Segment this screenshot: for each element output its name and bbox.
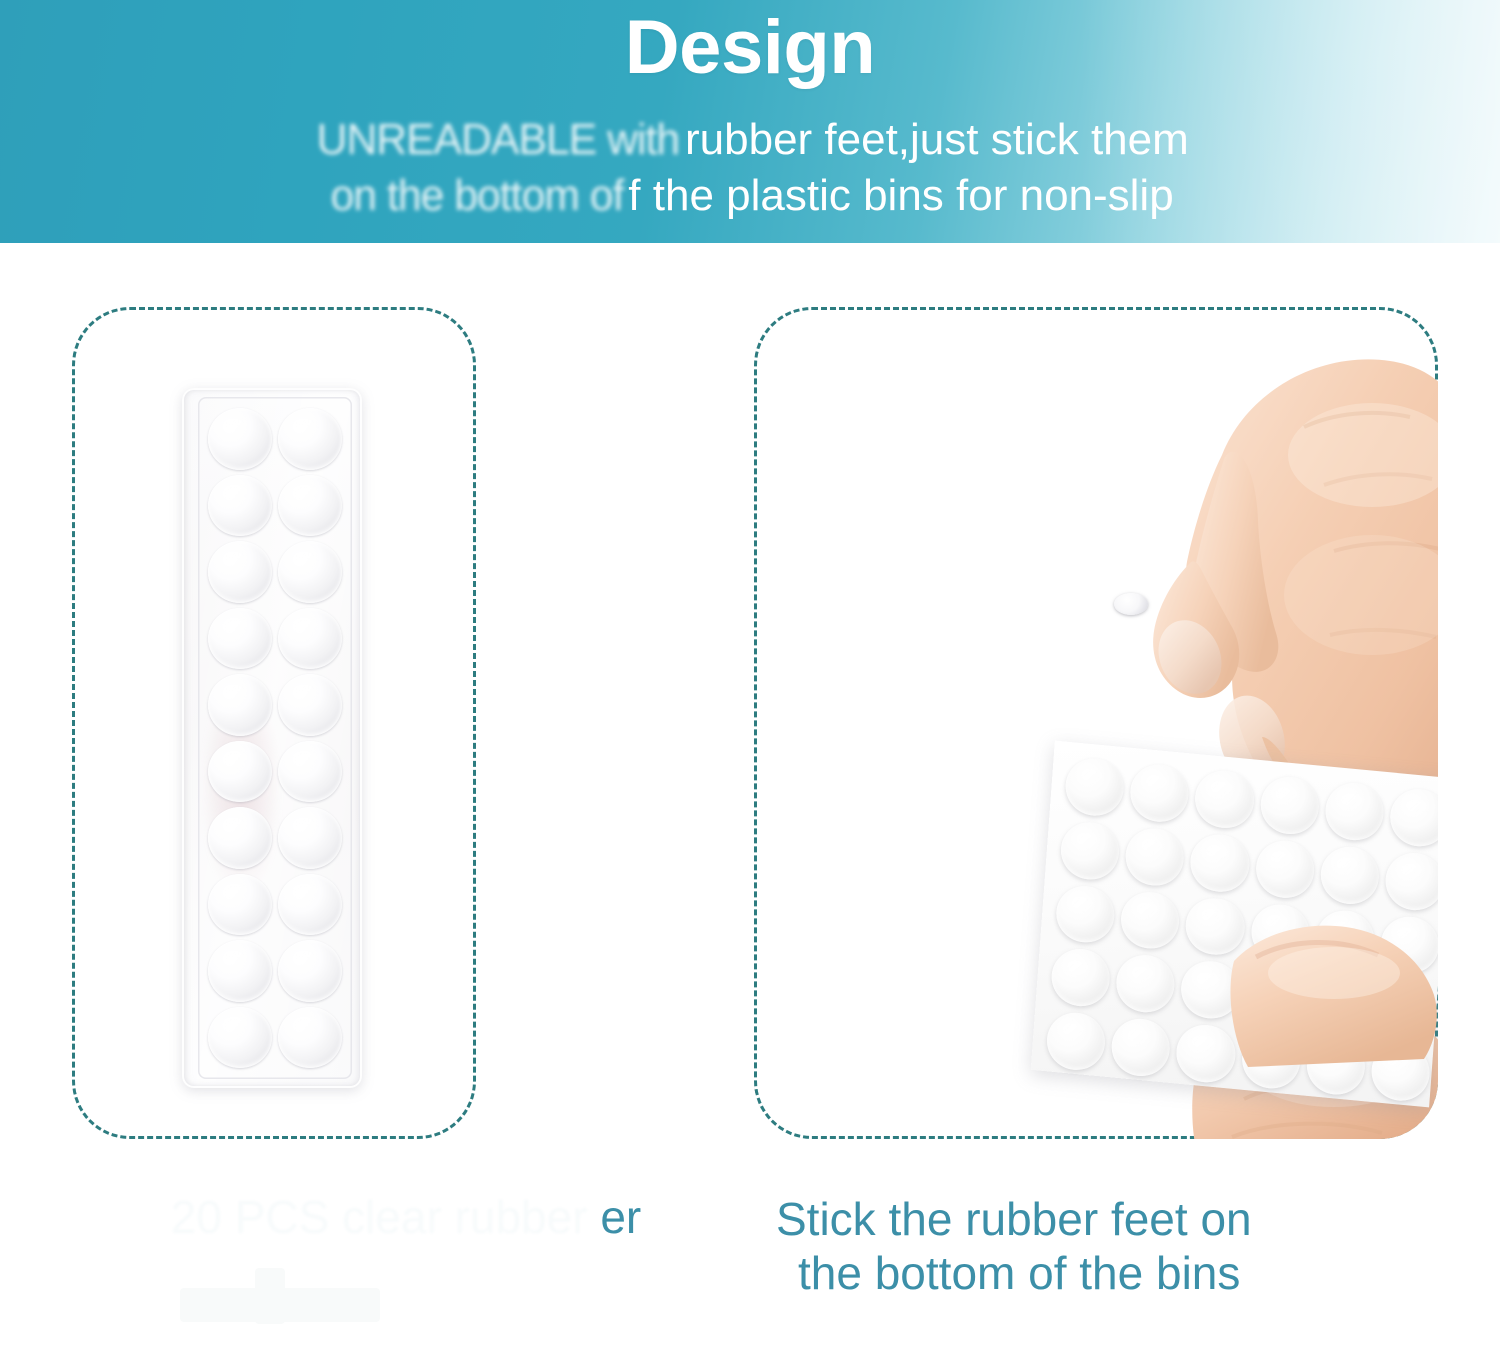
white-rubber-foot [1388,787,1438,849]
white-rubber-foot [1193,768,1255,830]
subtitle-line-2-legible: f the plastic bins for non-slip [628,168,1173,224]
caption-right-line-2: the bottom of the bins [776,1246,1436,1300]
clear-rubber-foot [208,874,272,936]
rubber-feet-strip-product-image [182,388,362,1088]
white-rubber-foot [1189,832,1251,894]
page-title: Design [0,8,1500,88]
clear-rubber-foot [208,1007,272,1069]
clear-rubber-foot [278,741,342,803]
clear-rubber-foot [278,940,342,1002]
clear-rubber-foot [208,674,272,736]
clear-rubber-foot [278,1007,342,1069]
clear-rubber-foot [208,475,272,537]
caption-right: Stick the rubber feet on the bottom of t… [776,1192,1436,1301]
white-rubber-foot [1319,844,1381,906]
finger-over-sheet [1230,915,1438,1067]
white-rubber-foot [1045,1010,1107,1072]
clear-rubber-foot [208,741,272,803]
clear-rubber-foot [208,940,272,1002]
header-banner: Design UNREADABLE withrubber feet,just s… [0,0,1500,243]
clear-rubber-foot [278,674,342,736]
clear-dome-grid [204,404,346,1072]
white-rubber-foot [1064,756,1126,818]
white-rubber-foot [1258,774,1320,836]
clear-rubber-foot [278,874,342,936]
subtitle-line-2-blurred: on the bottom of [331,168,624,224]
infographic-page: Design UNREADABLE withrubber feet,just s… [0,0,1500,1356]
subtitle-line-2: on the bottom off the plastic bins for n… [0,168,1500,224]
clear-rubber-foot [208,541,272,603]
caption-right-line-1: Stick the rubber feet on [776,1192,1436,1246]
clear-rubber-foot [208,408,272,470]
caption-left-faded: 20 PCS clear rubber [171,1191,588,1243]
white-rubber-foot [1054,883,1116,945]
clear-rubber-foot [278,807,342,869]
white-rubber-foot [1115,953,1177,1015]
clear-rubber-foot [278,475,342,537]
caption-left: 20 PCS clear rubber er [96,1190,716,1244]
white-rubber-foot [1129,762,1191,824]
clear-rubber-foot [278,408,342,470]
caption-left-visible-fragment: er [600,1191,641,1243]
white-rubber-foot [1383,850,1438,912]
white-rubber-foot [1323,780,1385,842]
clear-rubber-foot [278,608,342,670]
white-rubber-foot [1059,820,1121,882]
banner-subtitle: UNREADABLE withrubber feet,just stick th… [0,112,1500,225]
white-rubber-foot [1175,1023,1237,1085]
clear-rubber-foot [278,541,342,603]
white-rubber-foot [1110,1017,1172,1079]
white-rubber-foot [1050,947,1112,1009]
subtitle-line-1-blurred: UNREADABLE with [317,112,680,168]
clear-rubber-foot [208,807,272,869]
white-rubber-foot [1254,838,1316,900]
compression-artifact [255,1268,285,1324]
subtitle-line-1-legible: rubber feet,just stick them [685,112,1189,168]
clear-rubber-foot [208,608,272,670]
white-rubber-foot [1119,889,1181,951]
subtitle-line-1: UNREADABLE withrubber feet,just stick th… [0,112,1500,168]
white-rubber-foot [1124,826,1186,888]
